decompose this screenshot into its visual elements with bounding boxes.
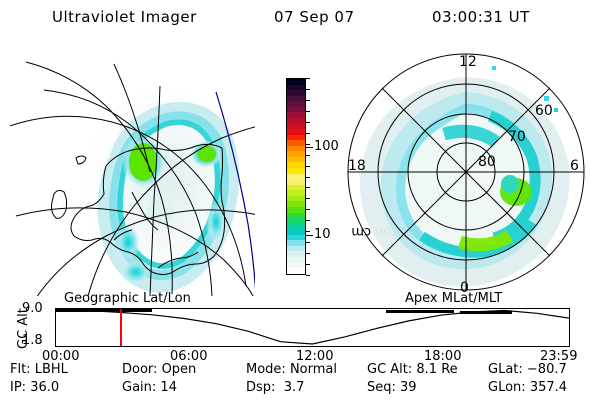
status-dsp-value: 3.7 [284,380,305,395]
orbit-altitude-curve [56,311,569,345]
colorbar-axis-title: photon cm-2s-1 [255,105,275,255]
status-dsp-label: Dsp: [246,380,275,395]
mlt-label-18: 18 [348,158,366,174]
status-glat: GLat: −80.7 [488,362,567,377]
apex-polar-plot[interactable]: 12 18 6 0 60 70 80 [340,46,592,296]
status-seq-value: 39 [400,380,417,395]
colorbar-tick-label: 10 [314,227,331,242]
status-gain-value: 14 [160,380,177,395]
status-glat-value: −80.7 [527,362,567,377]
orbit-ytick-min: 1.8 [22,333,43,348]
apex-plot-svg: 12 18 6 0 60 70 80 [340,46,592,296]
status-gcalt-value: 8.1 Re [416,362,457,377]
left-panel-title: Geographic Lat/Lon [64,291,191,306]
colorbar[interactable] [286,78,306,275]
status-glon: GLon: 357.4 [488,380,567,395]
status-mode-value: Normal [290,362,337,377]
status-glon-value: 357.4 [530,380,567,395]
status-glat-label: GLat: [488,362,523,377]
observation-date: 07 Sep 07 [274,8,354,26]
observation-time: 03:00:31 UT [432,8,530,26]
status-ip-label: IP: [10,380,26,395]
mlat-label-70: 70 [508,129,526,145]
status-ip: IP: 36.0 [10,380,59,395]
status-gcalt-label: GC Alt: [367,362,412,377]
colorbar-tick-label: 100 [314,139,339,154]
status-door: Door: Open [122,362,196,377]
colorbar-major-tick [306,235,313,237]
orbit-curve-svg [56,309,569,346]
mlat-label-60: 60 [535,103,553,119]
status-flt-label: Flt: [10,362,31,377]
status-dsp: Dsp: 3.7 [246,380,304,395]
page-title: Ultraviolet Imager [52,8,197,26]
right-panel-title: Apex MLat/MLT [405,291,502,306]
status-gcalt: GC Alt: 8.1 Re [367,362,458,377]
orbit-ytick-max: 9.0 [22,301,43,316]
orbit-ylabel: GC Alt [2,305,20,349]
orbit-altitude-plot[interactable]: Geographic Lat/Lon Apex MLat/MLT GC Alt … [0,293,600,355]
status-bar: Flt: LBHL Door: Open Mode: Normal GC Alt… [0,362,600,400]
status-door-label: Door: [122,362,157,377]
colorbar-ticks [306,78,313,275]
status-glon-label: GLon: [488,380,526,395]
colorbar-band [287,268,305,274]
current-time-marker [120,309,122,346]
mlt-grid [348,54,584,290]
status-gain-label: Gain: [122,380,156,395]
status-gain: Gain: 14 [122,380,177,395]
status-seq-label: Seq: [367,380,396,395]
colorbar-major-tick [306,147,313,149]
status-flt-value: LBHL [35,362,68,377]
orbit-plot-box [55,308,570,347]
status-ip-value: 36.0 [30,380,59,395]
mlat-label-80: 80 [478,154,496,170]
status-mode-label: Mode: [246,362,286,377]
status-seq: Seq: 39 [367,380,417,395]
geographic-polar-plot[interactable] [10,46,255,296]
mlt-label-6: 6 [570,158,579,174]
colorbar-gradient [286,78,306,275]
status-flt: Flt: LBHL [10,362,68,377]
status-mode: Mode: Normal [246,362,337,377]
status-door-value: Open [162,362,197,377]
mlt-label-12: 12 [459,54,477,70]
geographic-plot-svg [10,46,255,296]
